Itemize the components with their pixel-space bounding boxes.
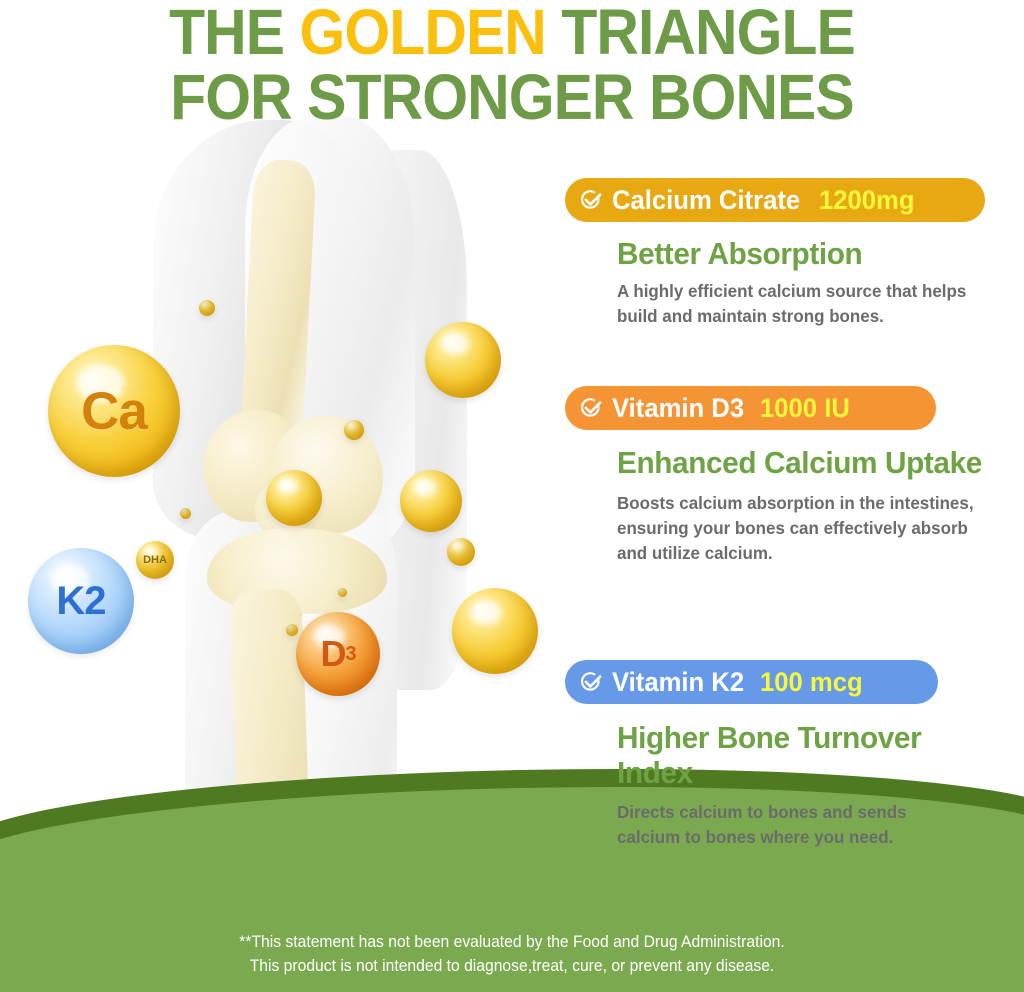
bubble-label-dha: DHA xyxy=(136,541,174,579)
bubble-label-d3-sup: 3 xyxy=(345,643,355,666)
badge-name: Calcium Citrate xyxy=(612,187,800,214)
nutrient-description: Directs calcium to bones and sends calci… xyxy=(617,800,966,850)
oil-bubble xyxy=(338,588,347,597)
check-circle-icon xyxy=(579,188,603,212)
nutrient-bubble-d3: D3 xyxy=(296,612,380,696)
bubble-label-k2: K2 xyxy=(28,548,134,654)
nutrient-heading: Better Absorption xyxy=(617,236,989,271)
nutrient-block-vitamin-k2: Vitamin K2 100 mcg Higher Bone Turnover … xyxy=(565,660,1005,850)
disclaimer-line-2: This product is not intended to diagnose… xyxy=(26,954,999,978)
title-part-the: THE xyxy=(169,0,299,68)
title-part-golden: GOLDEN xyxy=(300,0,546,68)
bubble-label-d3-letter: D xyxy=(320,633,345,675)
nutrient-heading: Higher Bone Turnover Index xyxy=(617,720,989,790)
oil-bubble xyxy=(400,470,462,532)
bubble-label-ca: Ca xyxy=(48,345,180,477)
oil-bubble xyxy=(425,322,501,398)
nutrient-block-calcium-citrate: Calcium Citrate 1200mg Better Absorption… xyxy=(565,178,1005,329)
nutrient-bubble-k2: K2 xyxy=(28,548,134,654)
title-part-triangle: TRIANGLE xyxy=(546,0,855,68)
badge-name: Vitamin D3 xyxy=(612,395,744,422)
oil-bubble xyxy=(452,588,538,674)
badge-dose: 1000 IU xyxy=(760,395,850,422)
oil-bubble xyxy=(199,300,215,316)
infographic-poster: THE GOLDEN TRIANGLE FOR STRONGER BONES C… xyxy=(0,0,1024,992)
oil-bubble xyxy=(447,538,475,566)
title-line-2: FOR STRONGER BONES xyxy=(41,64,983,130)
nutrient-badge-vitamin-k2[interactable]: Vitamin K2 100 mcg xyxy=(565,660,938,704)
disclaimer: **This statement has not been evaluated … xyxy=(26,930,999,978)
badge-name: Vitamin K2 xyxy=(612,669,744,696)
nutrient-badge-calcium-citrate[interactable]: Calcium Citrate 1200mg xyxy=(565,178,985,222)
oil-bubble xyxy=(180,508,191,519)
page-title: THE GOLDEN TRIANGLE FOR STRONGER BONES xyxy=(0,0,1024,130)
bubble-label-d3: D3 xyxy=(296,612,380,696)
oil-bubble xyxy=(344,420,364,440)
badge-dose: 100 mcg xyxy=(760,669,863,696)
oil-bubble xyxy=(266,470,322,526)
nutrient-bubble-ca: Ca xyxy=(48,345,180,477)
disclaimer-line-1: **This statement has not been evaluated … xyxy=(26,930,999,954)
check-circle-icon xyxy=(579,396,603,420)
nutrient-badge-vitamin-d3[interactable]: Vitamin D3 1000 IU xyxy=(565,386,936,430)
title-line-1: THE GOLDEN TRIANGLE xyxy=(41,0,983,64)
check-circle-icon xyxy=(579,670,603,694)
nutrient-description: Boosts calcium absorption in the intesti… xyxy=(617,491,986,566)
nutrient-description: A highly efficient calcium source that h… xyxy=(617,279,978,329)
nutrient-block-vitamin-d3: Vitamin D3 1000 IU Enhanced Calcium Upta… xyxy=(565,386,1005,566)
nutrient-heading: Enhanced Calcium Uptake xyxy=(617,445,989,480)
nutrient-bubble-dha: DHA xyxy=(136,541,174,579)
badge-dose: 1200mg xyxy=(819,187,915,214)
